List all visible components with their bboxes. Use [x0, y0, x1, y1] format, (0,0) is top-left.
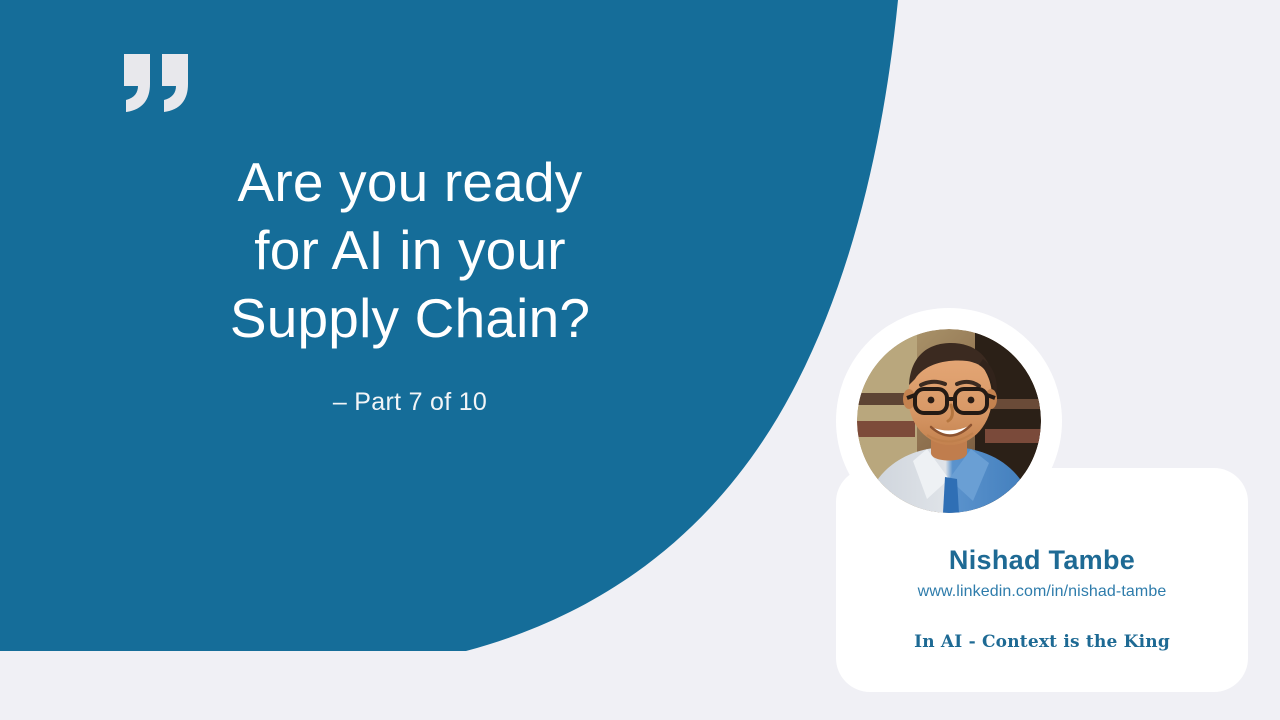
- avatar: Portrait photo of Nishad Tambe, smiling …: [836, 308, 1062, 534]
- headline-block: Are you ready for AI in your Supply Chai…: [60, 148, 760, 417]
- quote-mark-icon: [118, 52, 198, 118]
- slide-subtitle: – Part 7 of 10: [60, 352, 760, 417]
- author-tagline: In AI - Context is the King: [836, 601, 1248, 652]
- author-linkedin-url[interactable]: www.linkedin.com/in/nishad-tambe: [836, 576, 1248, 601]
- author-name: Nishad Tambe: [836, 546, 1248, 576]
- avatar-photo: Portrait photo of Nishad Tambe, smiling …: [857, 329, 1041, 513]
- slide-canvas: Are you ready for AI in your Supply Chai…: [0, 0, 1280, 720]
- slide-title: Are you ready for AI in your Supply Chai…: [60, 148, 760, 352]
- author-card-text: Nishad Tambe www.linkedin.com/in/nishad-…: [836, 546, 1248, 652]
